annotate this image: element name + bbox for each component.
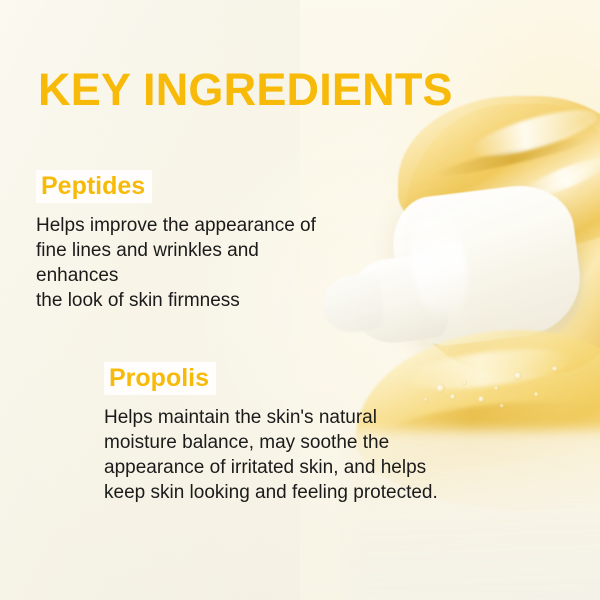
ingredient-name-peptides: Peptides [36, 170, 152, 203]
ingredient-block-propolis: Propolis Helps maintain the skin's natur… [104, 362, 474, 505]
key-ingredients-poster: KEY INGREDIENTS Peptides Helps improve t… [0, 0, 600, 600]
ingredient-description-peptides: Helps improve the appearance of fine lin… [36, 213, 336, 313]
ingredient-block-peptides: Peptides Helps improve the appearance of… [36, 170, 336, 313]
ingredient-description-propolis: Helps maintain the skin's natural moistu… [104, 405, 474, 505]
page-title: KEY INGREDIENTS [38, 64, 453, 116]
poster-content: KEY INGREDIENTS Peptides Helps improve t… [0, 0, 600, 600]
ingredient-name-propolis: Propolis [104, 362, 216, 395]
